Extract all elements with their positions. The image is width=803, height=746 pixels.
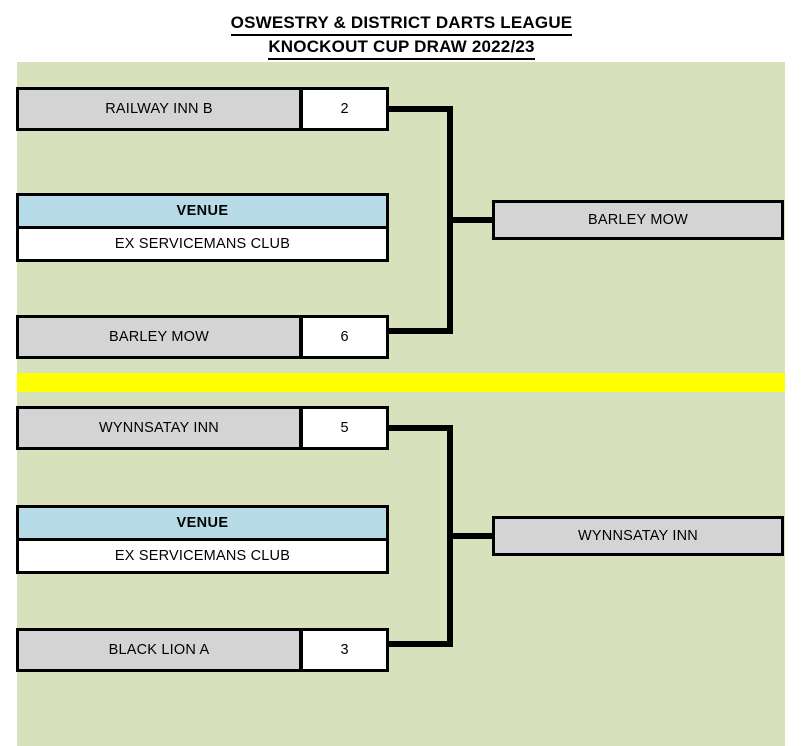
- match-row[interactable]: BLACK LION A 3: [16, 628, 389, 672]
- venue-header-label: VENUE: [19, 508, 386, 541]
- page-title-line-1: OSWESTRY & DISTRICT DARTS LEAGUE: [0, 12, 803, 36]
- team-score-cell[interactable]: 3: [301, 628, 389, 672]
- bracket-connector-bottom-horizontal: [389, 641, 453, 647]
- winner-box[interactable]: WYNNSATAY INN: [492, 516, 784, 556]
- match-row[interactable]: BARLEY MOW 6: [16, 315, 389, 359]
- team-score-cell[interactable]: 5: [301, 406, 389, 450]
- team-name-cell[interactable]: BLACK LION A: [16, 628, 301, 672]
- team-score-cell[interactable]: 6: [301, 315, 389, 359]
- team-name-cell[interactable]: RAILWAY INN B: [16, 87, 301, 131]
- bracket-connector-winner-stub: [447, 533, 495, 539]
- venue-name-value[interactable]: EX SERVICEMANS CLUB: [19, 229, 386, 259]
- team-name-cell[interactable]: WYNNSATAY INN: [16, 406, 301, 450]
- winner-box[interactable]: BARLEY MOW: [492, 200, 784, 240]
- bracket-connector-top-horizontal: [389, 425, 453, 431]
- venue-block: VENUE EX SERVICEMANS CLUB: [16, 505, 389, 574]
- page-title-line-1-text: OSWESTRY & DISTRICT DARTS LEAGUE: [231, 12, 573, 36]
- bracket-board: RAILWAY INN B 2 VENUE EX SERVICEMANS CLU…: [17, 62, 785, 746]
- bracket-connector-winner-stub: [447, 217, 495, 223]
- match-row[interactable]: RAILWAY INN B 2: [16, 87, 389, 131]
- bracket-connector-bottom-horizontal: [389, 328, 453, 334]
- page-title: OSWESTRY & DISTRICT DARTS LEAGUE KNOCKOU…: [0, 12, 803, 60]
- venue-block: VENUE EX SERVICEMANS CLUB: [16, 193, 389, 262]
- page-title-line-2-text: KNOCKOUT CUP DRAW 2022/23: [268, 36, 534, 60]
- bracket-connector-top-horizontal: [389, 106, 453, 112]
- team-name-cell[interactable]: BARLEY MOW: [16, 315, 301, 359]
- knockout-cup-draw-page: OSWESTRY & DISTRICT DARTS LEAGUE KNOCKOU…: [0, 0, 803, 746]
- page-title-line-2: KNOCKOUT CUP DRAW 2022/23: [0, 36, 803, 60]
- venue-name-value[interactable]: EX SERVICEMANS CLUB: [19, 541, 386, 571]
- match-row[interactable]: WYNNSATAY INN 5: [16, 406, 389, 450]
- team-score-cell[interactable]: 2: [301, 87, 389, 131]
- section-separator: [17, 373, 785, 392]
- venue-header-label: VENUE: [19, 196, 386, 229]
